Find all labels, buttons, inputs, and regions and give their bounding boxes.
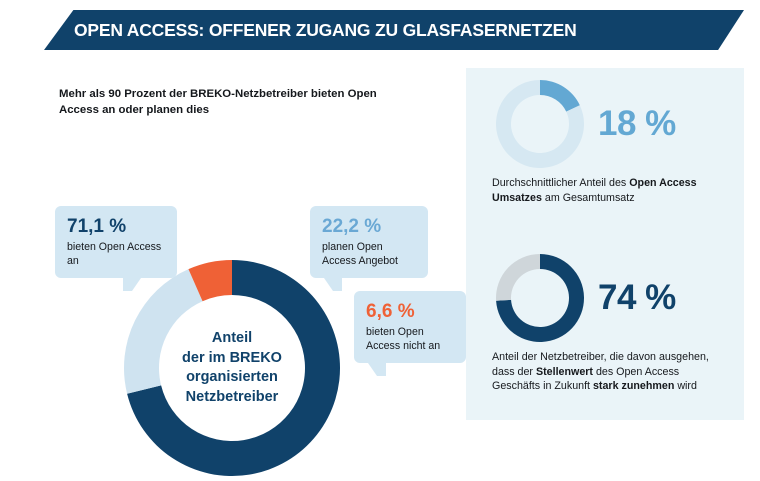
mini-donut-svg [496,80,584,168]
stat-row: 74 % [466,254,744,342]
stat-value: 18 % [598,80,676,168]
left-panel: Mehr als 90 Prozent der BREKO-Netzbetrei… [0,58,460,428]
stat-block-stellenwert: 74 % Anteil der Netzbetreiber, die davon… [466,254,744,342]
page-title: OPEN ACCESS: OFFENER ZUGANG ZU GLASFASER… [74,10,577,50]
stat-caption: Durchschnittlicher Anteil des Open Acces… [492,176,724,205]
callout-tail [123,278,141,291]
stat-block-umsatz: 18 % Durchschnittlicher Anteil des Open … [466,80,744,168]
stat-row: 18 % [466,80,744,168]
stat-value: 74 % [598,254,676,342]
donut-center-line-2: der im BREKO [157,349,307,369]
callout-description: bieten Open Access an [67,241,165,268]
callout-bubble-nicht-an: 6,6 % bieten Open Access nicht an [354,291,466,363]
stat-caption: Anteil der Netzbetreiber, die davon ausg… [492,350,724,394]
right-panel: 18 % Durchschnittlicher Anteil des Open … [466,68,744,420]
callout-bubble-bieten-open-access-an: 71,1 % bieten Open Access an [55,206,177,278]
main-donut-center: Anteil der im BREKO organisierten Netzbe… [124,260,340,476]
main-donut-chart: Anteil der im BREKO organisierten Netzbe… [124,260,340,476]
main-donut-center-text: Anteil der im BREKO organisierten Netzbe… [157,329,307,407]
mini-donut-chart-18 [496,80,584,168]
callout-value: 71,1 % [67,215,165,238]
donut-center-line-4: Netzbetreiber [157,388,307,408]
callout-value: 22,2 % [322,215,416,238]
callout-description: bieten Open Access nicht an [366,326,454,353]
callout-tail [324,278,342,291]
header-banner: OPEN ACCESS: OFFENER ZUGANG ZU GLASFASER… [0,10,760,50]
callout-tail [368,363,386,376]
mini-donut-chart-74 [496,254,584,342]
subtitle: Mehr als 90 Prozent der BREKO-Netzbetrei… [59,86,389,118]
mini-donut-svg [496,254,584,342]
donut-center-line-1: Anteil [157,329,307,349]
callout-value: 6,6 % [366,300,454,323]
callout-description: planen Open Access Angebot [322,241,416,268]
callout-bubble-planen-open-access: 22,2 % planen Open Access Angebot [310,206,428,278]
donut-center-line-3: organisierten [157,368,307,388]
